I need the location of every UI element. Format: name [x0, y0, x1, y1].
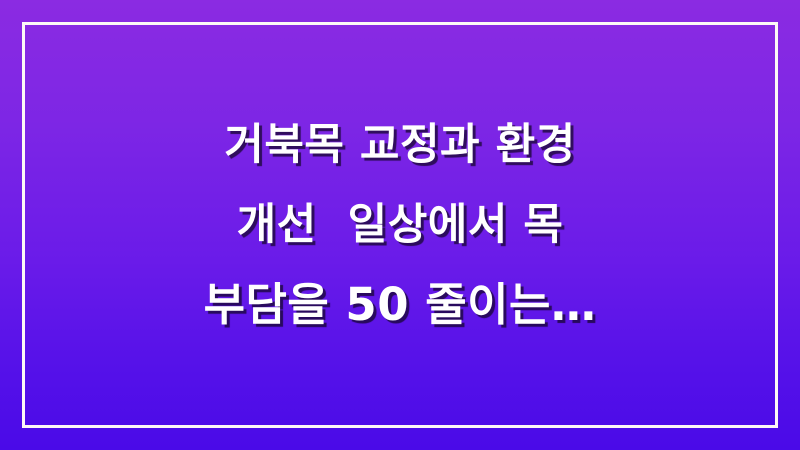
title-line-3: 부담을 50 줄이는… [0, 265, 800, 345]
title-card: 거북목 교정과 환경 개선 일상에서 목 부담을 50 줄이는… [0, 0, 800, 450]
title-text-block: 거북목 교정과 환경 개선 일상에서 목 부담을 50 줄이는… [0, 0, 800, 450]
title-line-1: 거북목 교정과 환경 [0, 105, 800, 185]
title-line-2: 개선 일상에서 목 [0, 185, 800, 265]
